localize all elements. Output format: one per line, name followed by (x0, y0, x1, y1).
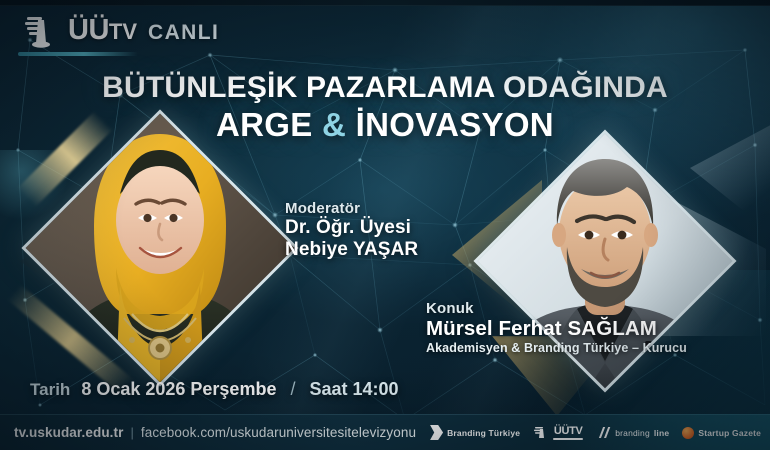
time-value: Saat 14:00 (309, 379, 398, 400)
channel-wordmark-tv: TV (109, 19, 137, 44)
footer-divider: | (130, 425, 133, 440)
channel-logo: ÜÜTV CANLI (24, 11, 219, 49)
branding-line-icon (596, 427, 611, 438)
guest-info: Konuk Mürsel Ferhat SAĞLAM Akademisyen &… (426, 300, 687, 355)
sponsor-branding-line-label-a: branding (615, 428, 650, 438)
sponsor-startup-gazete: Startup Gazete (682, 427, 761, 439)
sponsor-branding-line: branding line (596, 427, 669, 438)
sponsor-uutv: ÜÜTV (533, 425, 583, 441)
headline-line1-rest: ODAĞINDA (494, 71, 667, 104)
moderator-title: Dr. Öğr. Üyesi (285, 217, 418, 239)
facebook-link[interactable]: facebook.com/uskudaruniversitesitelevizy… (141, 425, 416, 440)
schedule-line: Tarih 8 Ocak 2026 Perşembe / Saat 14:00 (30, 379, 399, 400)
branding-turkiye-icon (430, 425, 443, 440)
moderator-role-label: Moderatör (285, 200, 418, 217)
headline-line-2: ARGE & İNOVASYON (0, 108, 770, 143)
date-value: 8 Ocak 2026 Perşembe (81, 379, 276, 400)
footer-bar: tv.uskudar.edu.tr | facebook.com/uskudar… (0, 414, 770, 450)
top-accent-strip (0, 0, 770, 6)
schedule-separator: / (287, 379, 298, 400)
headline-highlight: BÜTÜNLEŞİK PAZARLAMA (102, 71, 494, 104)
page-title: BÜTÜNLEŞİK PAZARLAMA ODAĞINDA ARGE & İNO… (0, 72, 770, 142)
moderator-name: Nebiye YAŞAR (285, 239, 418, 261)
headline-line-1: BÜTÜNLEŞİK PAZARLAMA ODAĞINDA (0, 72, 770, 104)
headline-line2-part1: ARGE (216, 106, 322, 143)
sponsor-logos: Branding Türkiye ÜÜTV (430, 425, 761, 441)
channel-wordmark: ÜÜTV (68, 16, 137, 45)
moderator-info: Moderatör Dr. Öğr. Üyesi Nebiye YAŞAR (285, 200, 418, 262)
broadcast-promo-poster: ÜÜTV CANLI BÜTÜNLEŞİK PAZARLAMA ODAĞINDA… (0, 0, 770, 450)
website-link[interactable]: tv.uskudar.edu.tr (14, 425, 123, 440)
logo-underline (18, 52, 138, 56)
sponsor-startup-gazete-label: Startup Gazete (698, 428, 761, 438)
uutv-underline (553, 438, 583, 440)
live-badge: CANLI (148, 22, 219, 43)
headline-line2-part2: İNOVASYON (346, 106, 554, 143)
sponsor-branding-turkiye-label: Branding Türkiye (447, 428, 520, 438)
broadcast-tower-icon (24, 11, 58, 49)
guest-subtitle: Akademisyen & Branding Türkiye – Kurucu (426, 341, 687, 355)
startup-gazete-icon (682, 427, 694, 439)
channel-wordmark-uu: ÜÜ (68, 14, 109, 46)
guest-name: Mürsel Ferhat SAĞLAM (426, 317, 687, 341)
uutv-icon (533, 425, 549, 441)
guest-role-label: Konuk (426, 300, 687, 317)
sponsor-branding-line-label-b: line (654, 428, 669, 438)
headline-ampersand: & (322, 106, 346, 143)
sponsor-branding-turkiye: Branding Türkiye (430, 425, 520, 440)
date-label: Tarih (30, 380, 70, 400)
sponsor-uutv-label: ÜÜTV (554, 426, 583, 437)
